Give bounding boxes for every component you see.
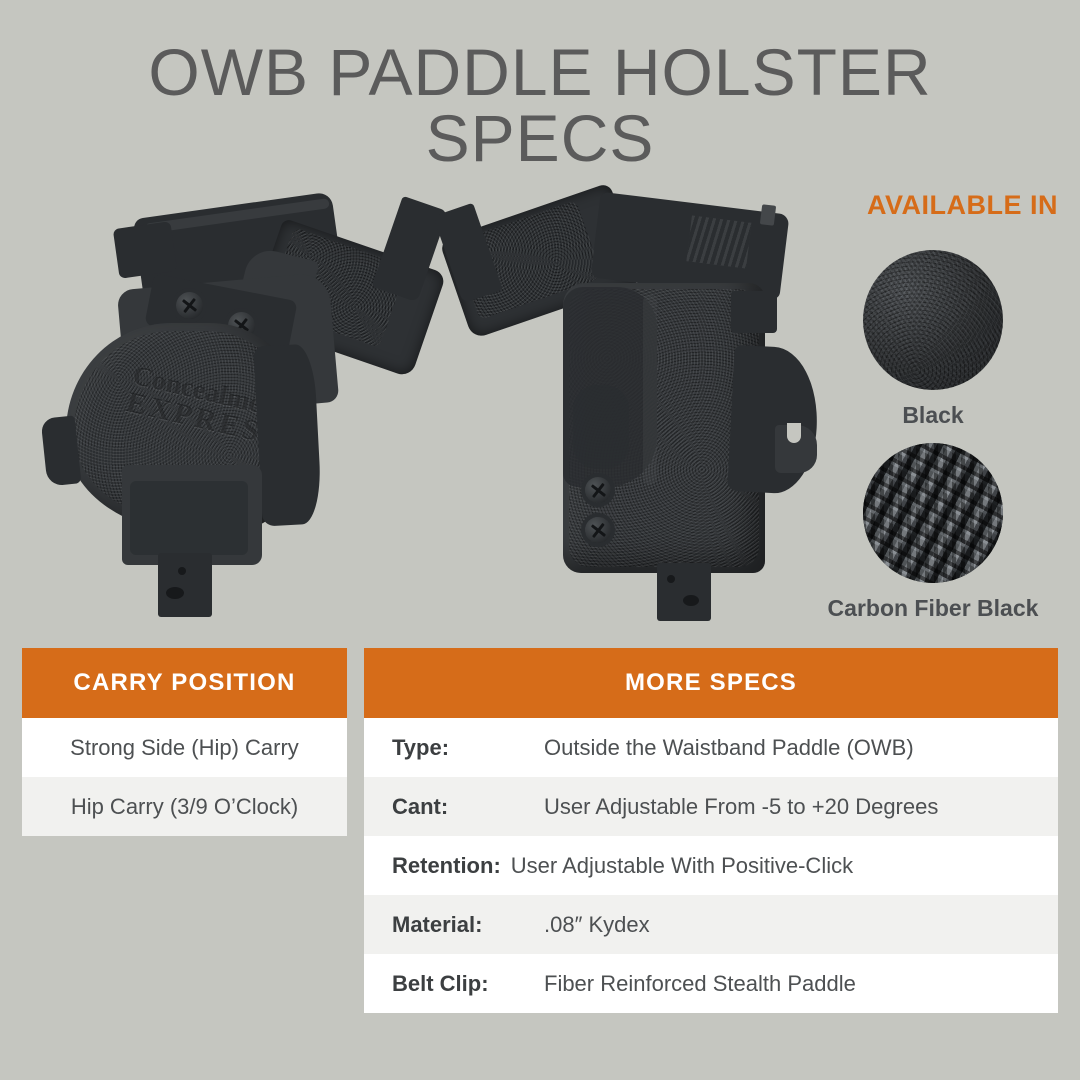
tail-hole-lower-rear [683, 595, 699, 606]
swatch-carbon-fiber-label: Carbon Fiber Black [803, 595, 1063, 622]
more-specs-table: MORE SPECS Type: Outside the Waistband P… [364, 648, 1058, 1013]
spec-label: Retention: [364, 853, 511, 879]
tail-hole-lower [166, 587, 184, 599]
holster-image-rear [445, 195, 830, 620]
swatch-carbon-fiber-circle [863, 443, 1003, 583]
table-row: Retention: User Adjustable With Positive… [364, 836, 1058, 895]
carry-position-value: Hip Carry (3/9 O’Clock) [22, 794, 347, 820]
tail-hole-upper [178, 567, 186, 575]
belt-clip-tab-rear [731, 291, 777, 333]
retention-screw-upper [585, 477, 611, 503]
spec-value: User Adjustable With Positive-Click [511, 853, 853, 879]
page-title-line2: SPECS [0, 108, 1080, 168]
spec-label: Material: [364, 912, 544, 938]
spec-value: .08″ Kydex [544, 912, 650, 938]
front-sight [760, 204, 776, 226]
more-specs-header: MORE SPECS [364, 648, 1058, 718]
tail-hole-upper-rear [667, 575, 675, 583]
slide-rear-extension [113, 221, 177, 279]
table-row: Material: .08″ Kydex [364, 895, 1058, 954]
carry-position-table: CARRY POSITION Strong Side (Hip) Carry H… [22, 648, 347, 836]
stealth-paddle-wing [727, 345, 821, 495]
swatch-black-label: Black [863, 402, 1003, 429]
available-in-heading: AVAILABLE IN [867, 190, 1058, 221]
table-row: Hip Carry (3/9 O’Clock) [22, 777, 347, 836]
adjustment-screw-upper [176, 292, 203, 319]
paddle-hook-notch [787, 423, 801, 443]
infographic-page: OWB PADDLE HOLSTER SPECS Concealment EXP… [0, 0, 1080, 1080]
muzzle-shroud-shadow [130, 481, 248, 555]
page-title-line1: OWB PADDLE HOLSTER [148, 35, 931, 109]
paddle-wing-right [253, 344, 322, 527]
retention-screw-lower [585, 517, 611, 543]
table-row: Belt Clip: Fiber Reinforced Stealth Padd… [364, 954, 1058, 1013]
table-row: Type: Outside the Waistband Paddle (OWB) [364, 718, 1058, 777]
paddle-hook-lip [41, 415, 82, 486]
slide-serrations-rear [686, 216, 751, 269]
spec-value: User Adjustable From -5 to +20 Degrees [544, 794, 938, 820]
spec-label: Belt Clip: [364, 971, 544, 997]
trigger-guard-bulge [573, 385, 629, 469]
swatch-carbon-fiber: Carbon Fiber Black [863, 443, 1003, 622]
spec-value: Fiber Reinforced Stealth Paddle [544, 971, 856, 997]
swatch-black-circle [863, 250, 1003, 390]
carry-position-header: CARRY POSITION [22, 648, 347, 718]
spec-label: Cant: [364, 794, 544, 820]
table-row: Strong Side (Hip) Carry [22, 718, 347, 777]
belt-clip-tail [158, 553, 212, 617]
spec-value: Outside the Waistband Paddle (OWB) [544, 735, 914, 761]
belt-clip-tail-rear [657, 563, 711, 621]
carry-position-value: Strong Side (Hip) Carry [22, 735, 347, 761]
page-title: OWB PADDLE HOLSTER SPECS [0, 42, 1080, 168]
table-row: Cant: User Adjustable From -5 to +20 Deg… [364, 777, 1058, 836]
spec-label: Type: [364, 735, 544, 761]
body-center-ridge [643, 295, 657, 485]
holster-image-front: Concealment EXPRESS [30, 195, 440, 620]
swatch-black: Black [863, 250, 1003, 429]
